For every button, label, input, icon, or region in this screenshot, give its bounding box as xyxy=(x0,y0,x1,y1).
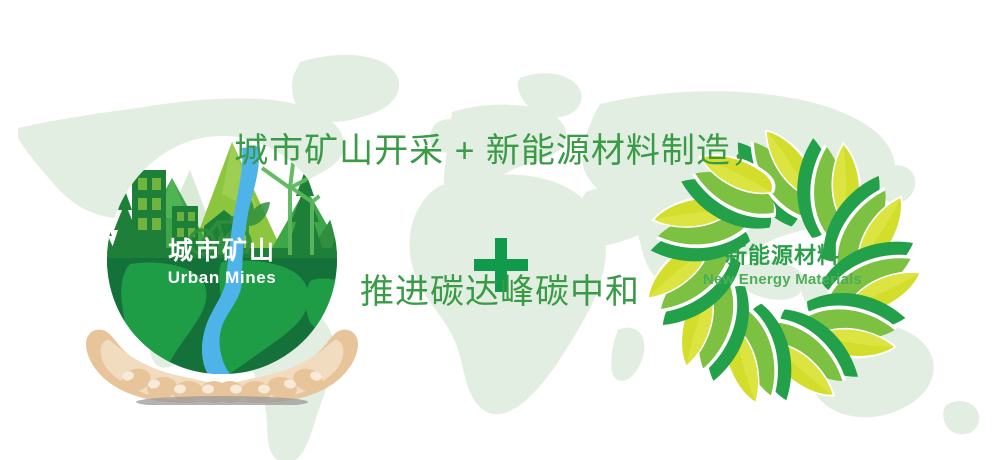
page-title: 城市矿山开采 + 新能源材料制造， 推进碳达峰碳中和 xyxy=(0,34,1000,410)
title-line-2: 推进碳达峰碳中和 xyxy=(0,269,1000,316)
poster-canvas: 城市矿山开采 + 新能源材料制造， 推进碳达峰碳中和 xyxy=(0,0,1000,460)
title-line-1: 城市矿山开采 + 新能源材料制造， xyxy=(0,128,1000,175)
